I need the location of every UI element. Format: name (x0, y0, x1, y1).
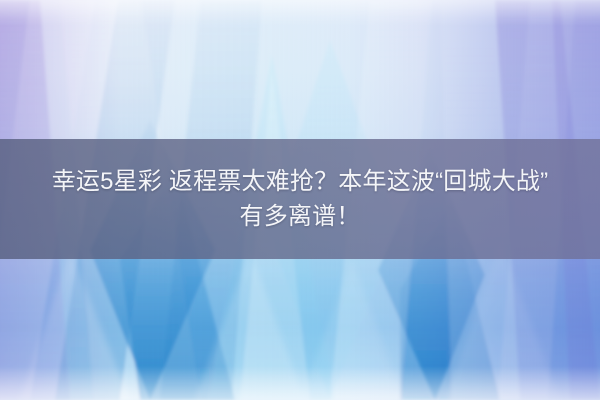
caption-band: 幸运5星彩 返程票太难抢？本年这波“回城大战” 有多离谱！ (0, 139, 600, 259)
bottom-haze (0, 366, 600, 400)
caption-line-2: 有多离谱！ (240, 200, 361, 233)
gradient-banner: 幸运5星彩 返程票太难抢？本年这波“回城大战” 有多离谱！ (0, 0, 600, 400)
top-haze (0, 0, 600, 26)
caption-line-1: 幸运5星彩 返程票太难抢？本年这波“回城大战” (52, 165, 549, 198)
